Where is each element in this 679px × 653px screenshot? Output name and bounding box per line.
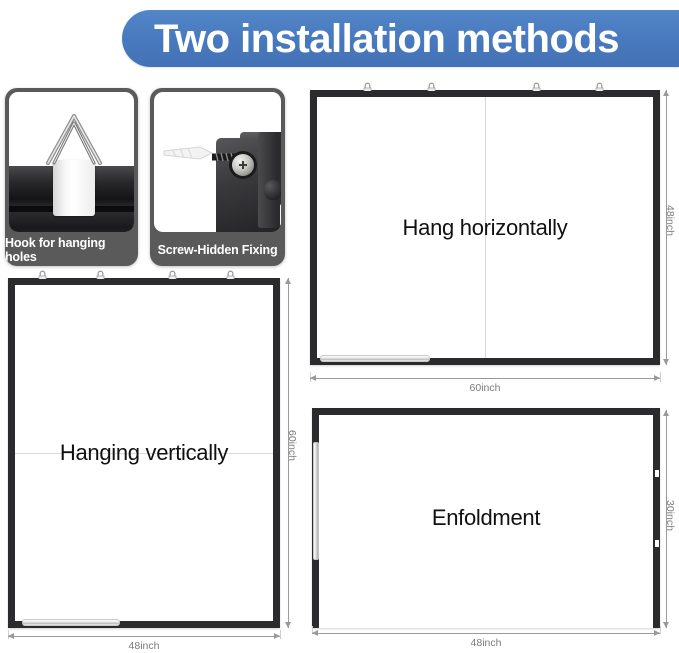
screen-enfoldment: Enfoldment	[312, 408, 660, 628]
dim-ext-line	[280, 630, 281, 639]
frame-clip-mark	[655, 470, 659, 477]
infographic-canvas: Two installation methods Hook for hangin…	[0, 0, 679, 653]
screen-hanging-vertically: Hanging vertically	[8, 278, 280, 628]
photo-card-screw: Screw-Hidden Fixing	[150, 88, 285, 266]
white-tab-graphic	[280, 204, 281, 226]
photo-card-hook: Hook for hanging holes	[5, 88, 138, 266]
screen-label-enfoldment: Enfoldment	[312, 505, 660, 531]
bottom-rod	[22, 619, 120, 626]
dimension-label-48inch: 48inch	[312, 637, 660, 649]
page-title: Two installation methods	[122, 19, 619, 59]
frame-clip-mark	[655, 540, 659, 547]
photo-card-screw-caption: Screw-Hidden Fixing	[150, 234, 285, 266]
triangle-hook-icon	[41, 110, 107, 166]
hanging-hook-icon	[226, 268, 235, 279]
wall-anchor-icon	[162, 142, 216, 164]
photo-card-hook-caption: Hook for hanging holes	[5, 234, 138, 266]
rolled-screen-strip	[313, 442, 319, 560]
dimension-label-48inch: 48inch	[8, 640, 280, 652]
screen-label-vertical: Hanging vertically	[8, 440, 280, 466]
screen-hang-horizontally: Hang horizontally	[310, 90, 660, 365]
hanging-hook-icon	[38, 268, 47, 279]
hanging-hook-icon	[532, 80, 541, 91]
screw-photo	[154, 92, 281, 232]
dim-ext-line	[660, 626, 661, 634]
hanging-hook-icon	[427, 80, 436, 91]
hook-photo	[9, 92, 134, 232]
hanging-hook-icon	[363, 80, 372, 91]
dimension-label-30inch: 30inch	[664, 500, 676, 531]
header-banner: Two installation methods	[122, 10, 679, 67]
screw-cross-icon	[239, 161, 247, 169]
hanging-hook-icon	[96, 268, 105, 279]
dimension-label-60inch: 60inch	[286, 430, 298, 461]
hanging-hook-icon	[168, 268, 177, 279]
knob-graphic	[264, 180, 281, 200]
dimension-line-width-horizontal	[310, 378, 660, 379]
hanging-hook-icon	[595, 80, 604, 91]
dimension-line-width-vertical	[8, 636, 280, 637]
dim-ext-line	[660, 372, 661, 382]
bottom-rod	[320, 355, 430, 362]
dimension-label-60inch: 60inch	[310, 382, 660, 394]
dimension-line-width-enfoldment	[312, 633, 660, 634]
dimension-label-48inch: 48inch	[664, 205, 676, 236]
screen-label-horizontal: Hang horizontally	[310, 215, 660, 241]
hook-strap-graphic	[53, 160, 95, 216]
